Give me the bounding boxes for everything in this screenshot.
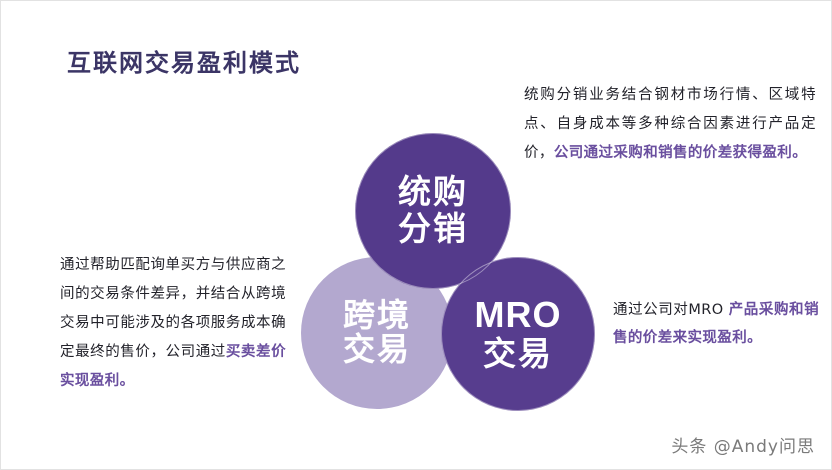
callout-top-right-accent: 公司通过采购和销售的价差获得盈利。 bbox=[554, 145, 807, 161]
venn-circle-cross-border-line1: 跨境 bbox=[343, 299, 411, 333]
slide-canvas: 互联网交易盈利模式 跨境 交易 统购 分销 MRO 交易 统购分销业务结合钢材市… bbox=[0, 0, 832, 470]
venn-circle-mro-line1: MRO bbox=[475, 296, 562, 334]
venn-circle-mro-line2: 交易 bbox=[483, 337, 553, 372]
venn-diagram: 跨境 交易 统购 分销 MRO 交易 bbox=[293, 129, 605, 417]
watermark: 头条 @Andy问思 bbox=[671, 432, 815, 457]
page-title: 互联网交易盈利模式 bbox=[67, 43, 301, 78]
callout-bottom-right-plain: 通过公司对MRO bbox=[613, 302, 729, 318]
callout-top-right: 统购分销业务结合钢材市场行情、区域特点、自身成本等多种综合因素进行产品定价，公司… bbox=[524, 81, 816, 168]
venn-circle-cross-border-line2: 交易 bbox=[343, 333, 411, 367]
callout-bottom-right: 通过公司对MRO 产品采购和销售的价差来实现盈利。 bbox=[613, 296, 819, 352]
venn-circle-procurement-line1: 统购 bbox=[398, 175, 468, 210]
venn-circle-procurement-line2: 分销 bbox=[398, 212, 468, 247]
venn-circle-mro[interactable]: MRO 交易 bbox=[441, 257, 595, 411]
callout-left: 通过帮助匹配询单买方与供应商之间的交易条件差异，并结合从跨境交易中可能涉及的各项… bbox=[60, 251, 286, 396]
